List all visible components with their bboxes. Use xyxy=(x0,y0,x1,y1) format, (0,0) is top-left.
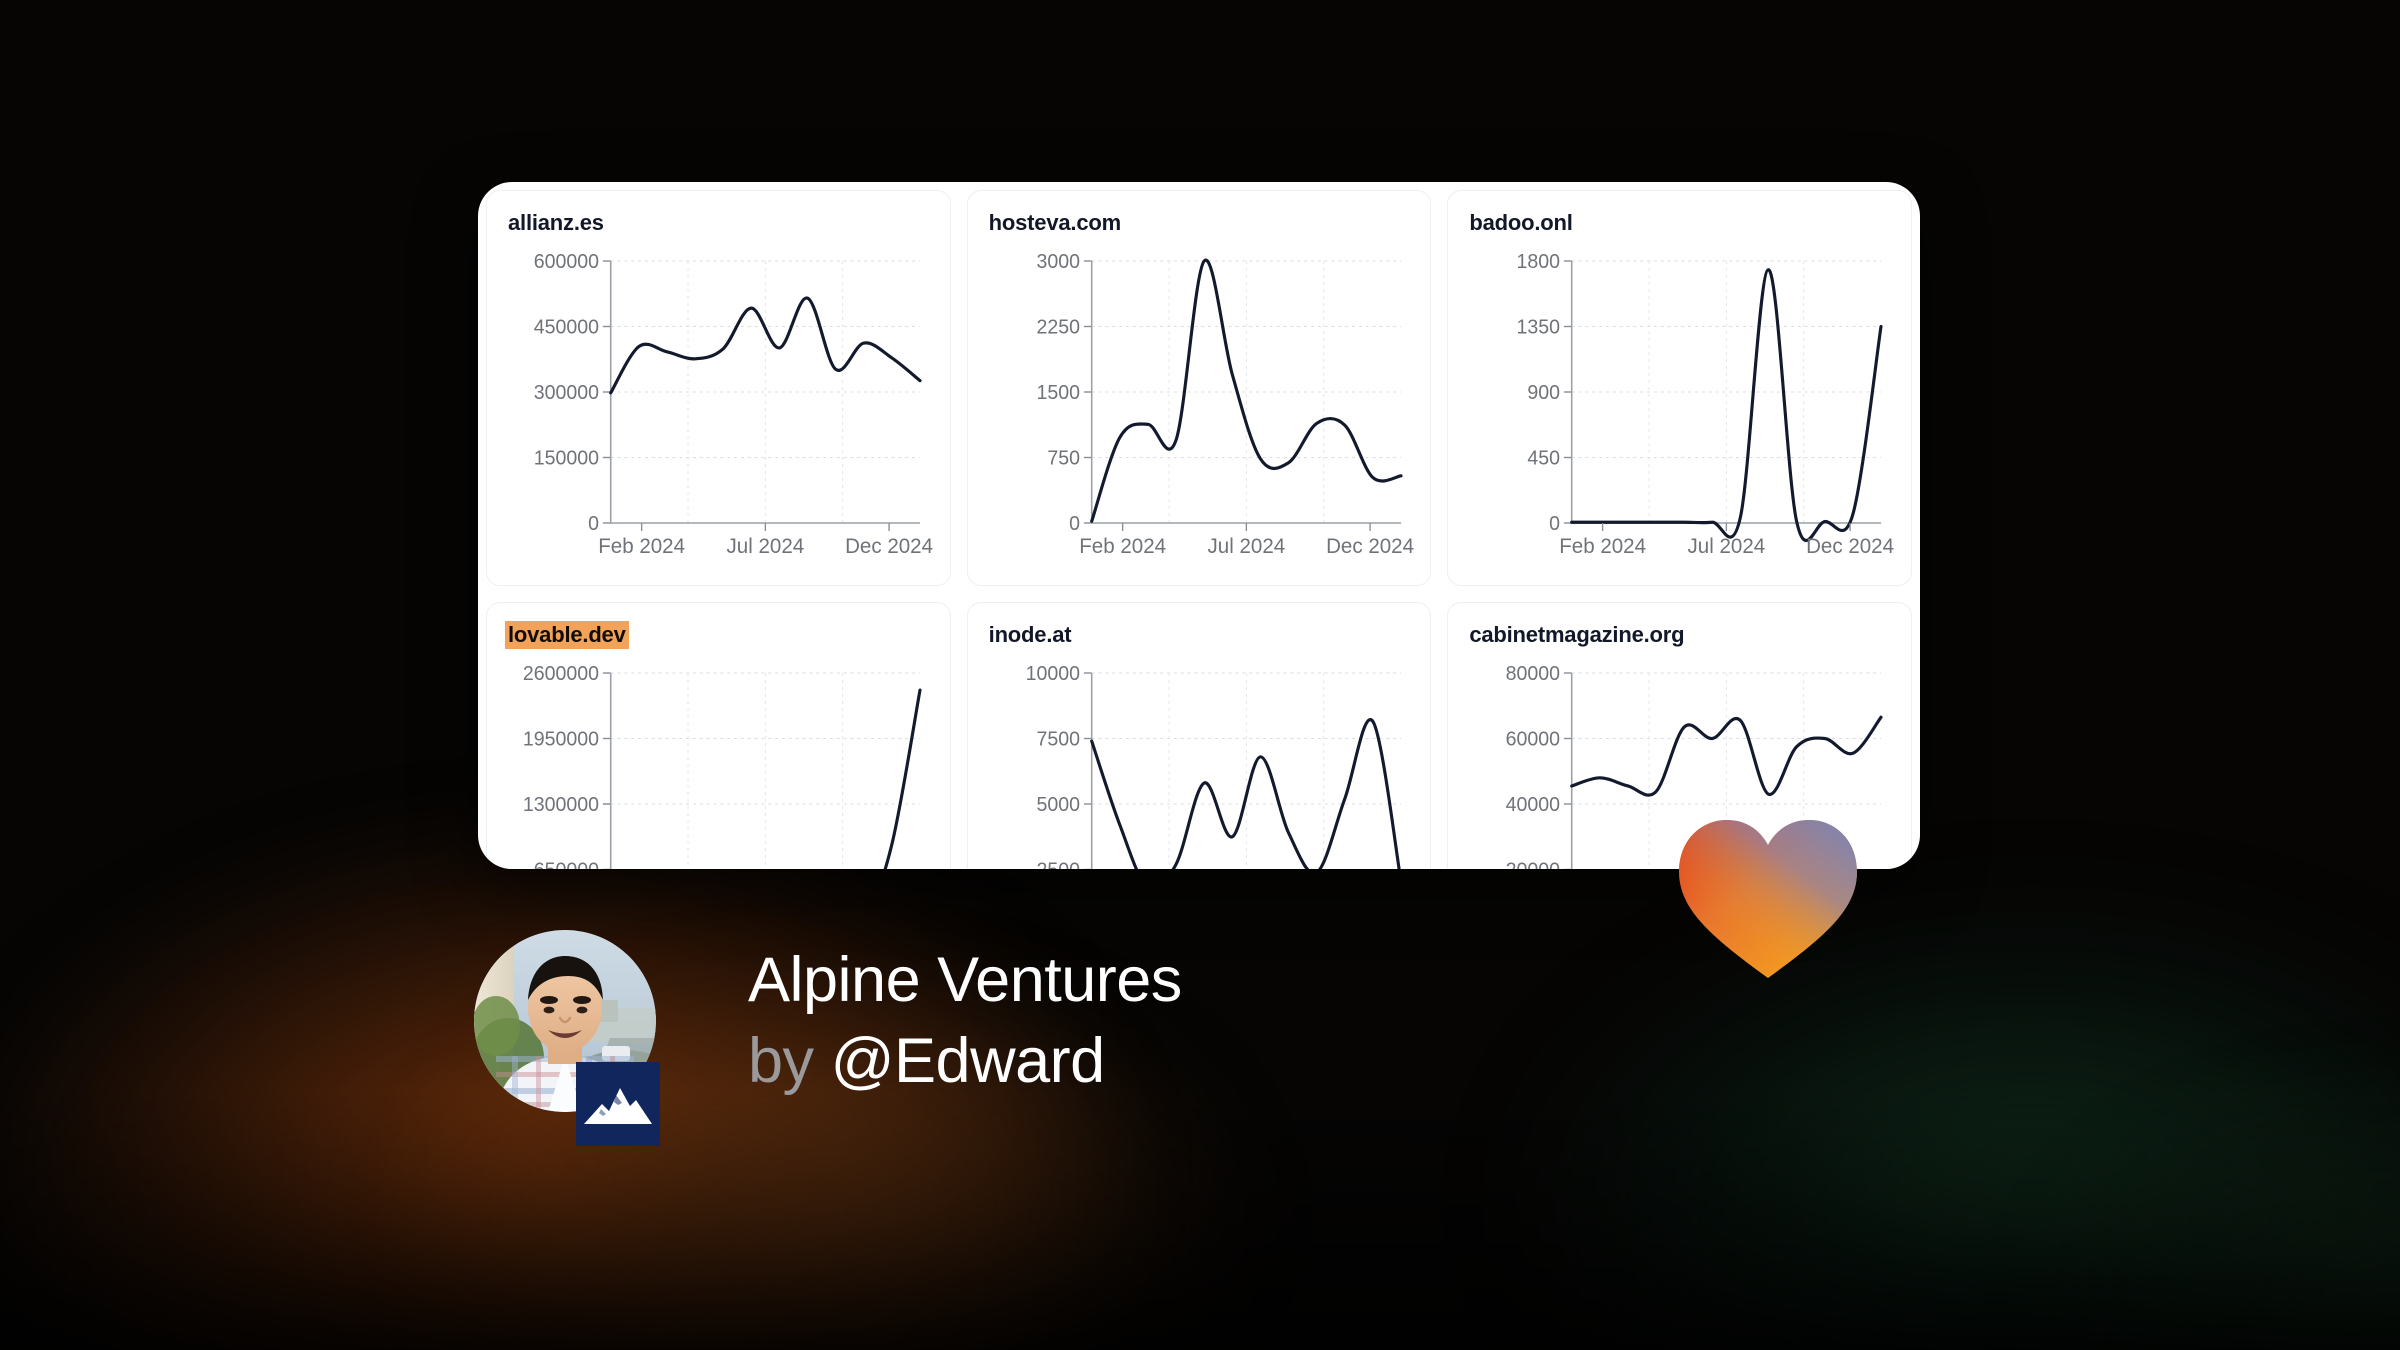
chart-grid: allianz.es0150000300000450000600000Feb 2… xyxy=(478,182,1920,869)
y-axis-tick-label: 2600000 xyxy=(523,663,599,685)
page-title: Alpine Ventures xyxy=(748,945,1182,1016)
y-axis-tick-label: 650000 xyxy=(534,859,599,869)
y-axis-tick-label: 1500 xyxy=(1036,382,1080,404)
y-axis-tick-label: 0 xyxy=(1069,513,1080,535)
y-axis-tick-label: 20000 xyxy=(1506,859,1560,869)
chart-card[interactable]: inode.at25005000750010000 xyxy=(967,602,1432,869)
x-axis-tick-label: Dec 2024 xyxy=(845,535,933,558)
series-line xyxy=(1091,260,1400,521)
chart-title: lovable.dev xyxy=(505,621,629,649)
chart-title: cabinetmagazine.org xyxy=(1466,621,1687,649)
byline-by-label: by xyxy=(748,1026,814,1096)
dashboard-panel: allianz.es0150000300000450000600000Feb 2… xyxy=(478,182,1920,869)
avatar-group xyxy=(474,930,656,1112)
chart-title: allianz.es xyxy=(505,209,607,237)
x-axis-tick-label: Feb 2024 xyxy=(1079,535,1166,558)
byline-subtitle: by @Edward xyxy=(748,1026,1182,1097)
background-bottom-fade xyxy=(0,1090,2400,1350)
mountain-logo-badge xyxy=(576,1062,660,1146)
chart-card[interactable]: hosteva.com0750150022503000Feb 2024Jul 2… xyxy=(967,190,1432,586)
y-axis-tick-label: 60000 xyxy=(1506,728,1560,750)
series-line xyxy=(1572,717,1881,795)
y-axis-tick-label: 3000 xyxy=(1036,251,1080,273)
chart-plot: 0750150022503000Feb 2024Jul 2024Dec 2024 xyxy=(986,251,1417,571)
y-axis-tick-label: 7500 xyxy=(1036,728,1080,750)
y-axis-tick-label: 0 xyxy=(1549,513,1560,535)
chart-title: badoo.onl xyxy=(1466,209,1575,237)
y-axis-tick-label: 1950000 xyxy=(523,728,599,750)
series-line xyxy=(1091,720,1400,869)
y-axis-tick-label: 300000 xyxy=(534,382,599,404)
y-axis-tick-label: 900 xyxy=(1528,382,1561,404)
y-axis-tick-label: 450 xyxy=(1528,447,1561,469)
x-axis-tick-label: Dec 2024 xyxy=(1806,535,1894,558)
chart-card[interactable]: lovable.dev650000130000019500002600000 xyxy=(486,602,951,869)
chart-plot: 650000130000019500002600000 xyxy=(505,663,936,869)
chart-plot: 045090013501800Feb 2024Jul 2024Dec 2024 xyxy=(1466,251,1897,571)
x-axis-tick-label: Jul 2024 xyxy=(727,535,805,558)
y-axis-tick-label: 150000 xyxy=(534,447,599,469)
chart-plot: 0150000300000450000600000Feb 2024Jul 202… xyxy=(505,251,936,571)
byline-text: Alpine Ventures by @Edward xyxy=(748,945,1182,1096)
chart-title: hosteva.com xyxy=(986,209,1124,237)
x-axis-tick-label: Jul 2024 xyxy=(1688,535,1766,558)
gradient-heart-logo xyxy=(1673,812,1863,982)
x-axis-tick-label: Feb 2024 xyxy=(598,535,685,558)
chart-card[interactable]: badoo.onl045090013501800Feb 2024Jul 2024… xyxy=(1447,190,1912,586)
y-axis-tick-label: 1800 xyxy=(1517,251,1561,273)
y-axis-tick-label: 0 xyxy=(588,513,599,535)
chart-title: inode.at xyxy=(986,621,1075,649)
y-axis-tick-label: 2500 xyxy=(1036,859,1080,869)
y-axis-tick-label: 5000 xyxy=(1036,794,1080,816)
y-axis-tick-label: 1300000 xyxy=(523,794,599,816)
y-axis-tick-label: 750 xyxy=(1047,447,1080,469)
y-axis-tick-label: 80000 xyxy=(1506,663,1560,685)
byline-handle: @Edward xyxy=(831,1026,1105,1096)
chart-card[interactable]: allianz.es0150000300000450000600000Feb 2… xyxy=(486,190,951,586)
y-axis-tick-label: 2250 xyxy=(1036,316,1080,338)
promo-card-canvas: allianz.es0150000300000450000600000Feb 2… xyxy=(0,0,2400,1350)
y-axis-tick-label: 450000 xyxy=(534,316,599,338)
y-axis-tick-label: 1350 xyxy=(1517,316,1561,338)
x-axis-tick-label: Jul 2024 xyxy=(1207,535,1285,558)
chart-plot: 25005000750010000 xyxy=(986,663,1417,869)
y-axis-tick-label: 10000 xyxy=(1025,663,1079,685)
x-axis-tick-label: Dec 2024 xyxy=(1326,535,1414,558)
y-axis-tick-label: 40000 xyxy=(1506,794,1560,816)
y-axis-tick-label: 600000 xyxy=(534,251,599,273)
x-axis-tick-label: Feb 2024 xyxy=(1560,535,1647,558)
byline: Alpine Ventures by @Edward xyxy=(474,930,1182,1112)
